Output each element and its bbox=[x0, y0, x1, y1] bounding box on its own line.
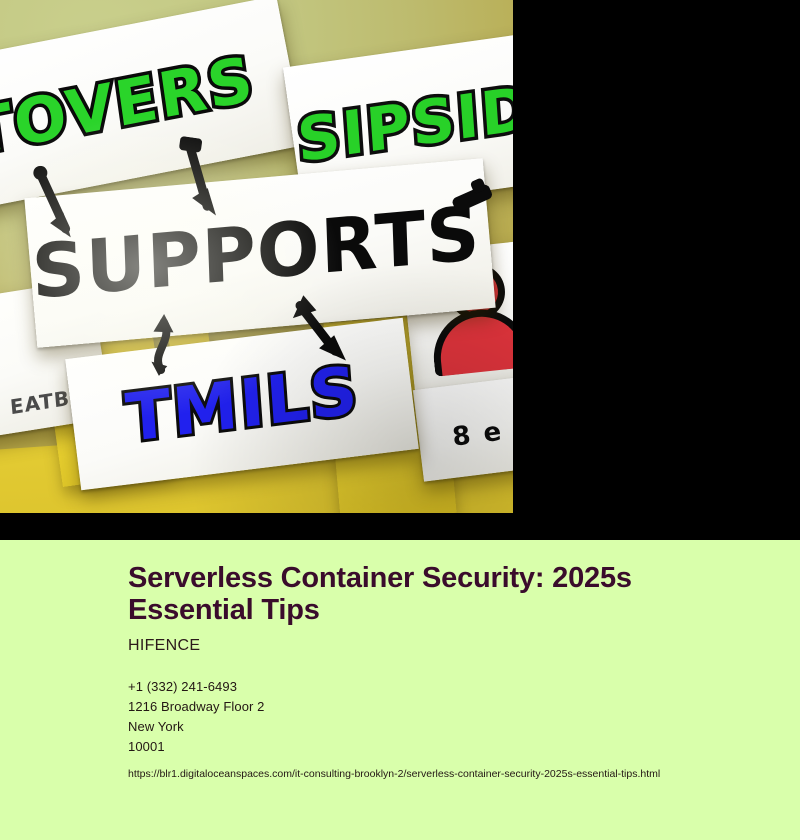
sign-scribble: 8 e bbox=[413, 374, 513, 481]
sign-fragment-left-text: EATB bbox=[9, 386, 71, 419]
arrow-down-right-icon bbox=[24, 165, 94, 247]
contact-city: New York bbox=[128, 717, 688, 737]
brand-name: HIFENCE bbox=[128, 637, 688, 655]
info-panel: Serverless Container Security: 2025s Ess… bbox=[0, 540, 800, 840]
arrow-down-icon bbox=[166, 136, 248, 237]
media-area: ? TOVERS SIPSID EATB SUPPORTS 8 e bbox=[0, 0, 800, 540]
arrow-up-icon bbox=[145, 313, 181, 376]
hero-image: ? TOVERS SIPSID EATB SUPPORTS 8 e bbox=[0, 0, 513, 513]
person-body-icon bbox=[429, 305, 513, 377]
contact-phone: +1 (332) 241-6493 bbox=[128, 677, 688, 697]
arrow-down-right-icon-2 bbox=[289, 292, 356, 374]
sign-supports-text: SUPPORTS bbox=[30, 191, 481, 316]
contact-street: 1216 Broadway Floor 2 bbox=[128, 697, 688, 717]
page-title: Serverless Container Security: 2025s Ess… bbox=[128, 562, 688, 627]
sign-scribble-text: 8 e bbox=[451, 417, 505, 453]
contact-zip: 10001 bbox=[128, 737, 688, 757]
page-url[interactable]: https://blr1.digitaloceanspaces.com/it-c… bbox=[128, 768, 688, 780]
contact-block: +1 (332) 241-6493 1216 Broadway Floor 2 … bbox=[128, 677, 688, 758]
